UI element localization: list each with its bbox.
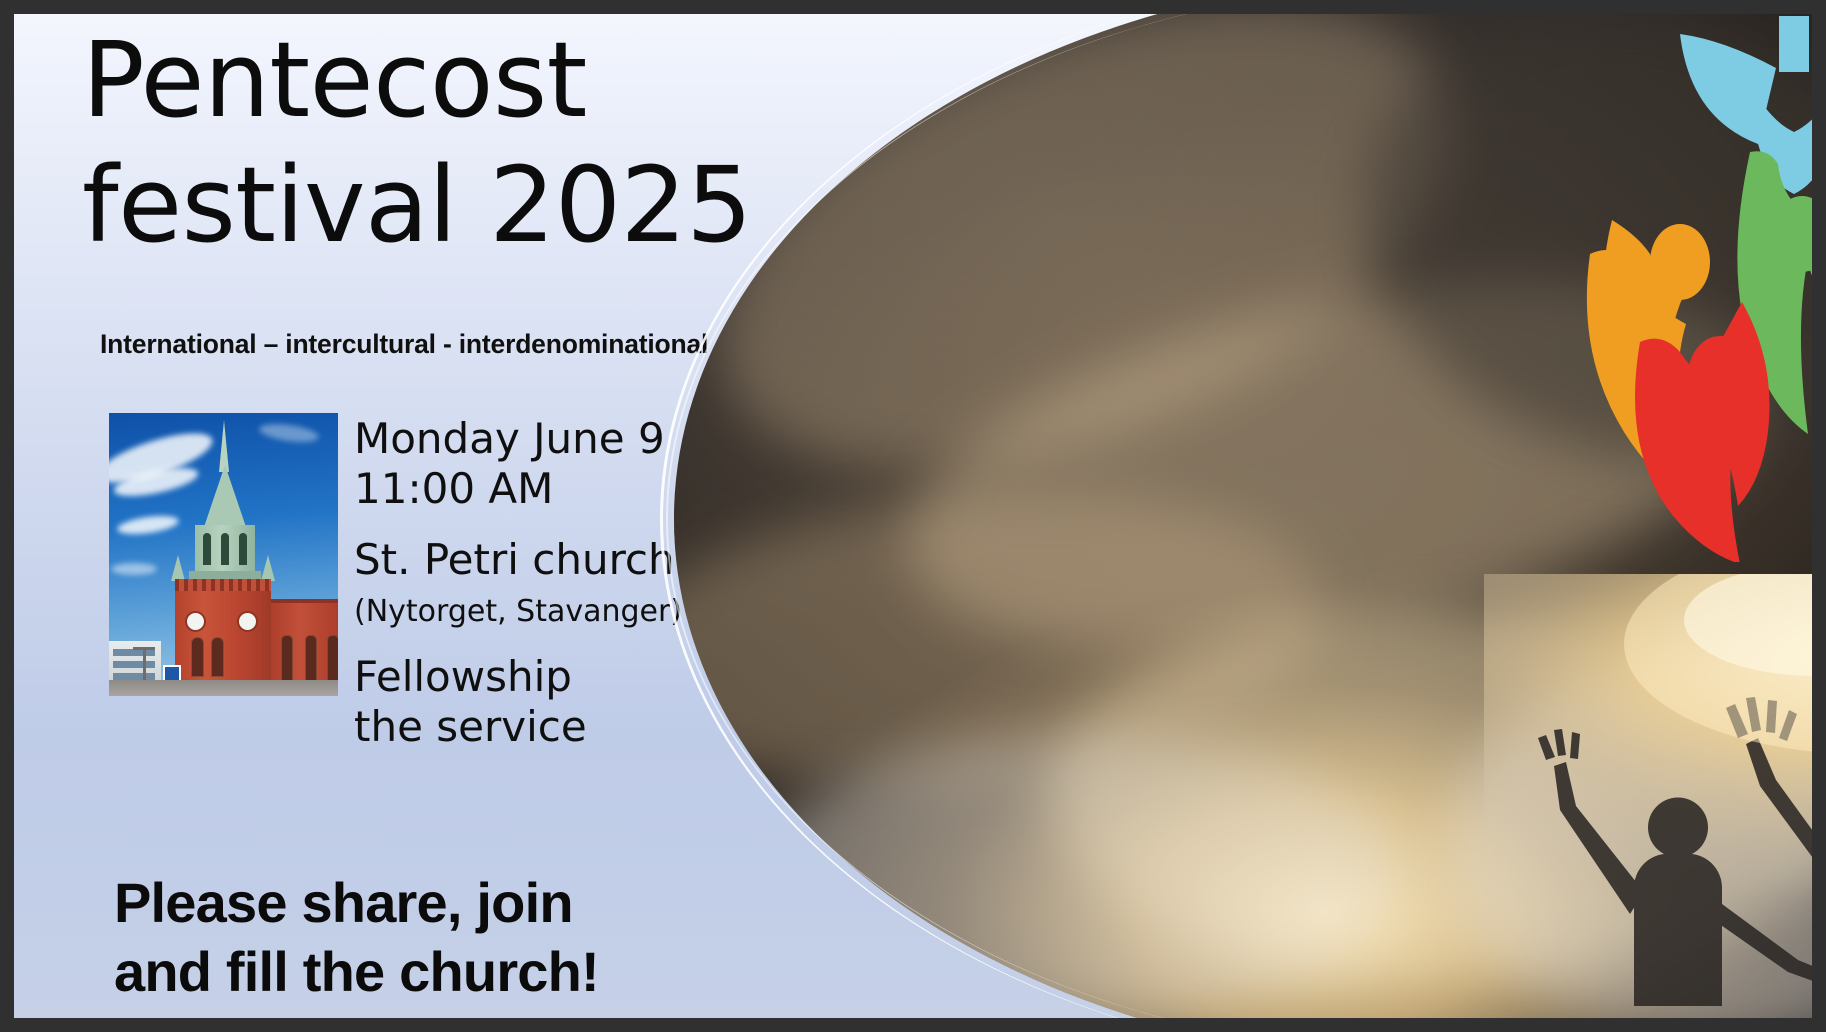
belfry-louvre: [203, 533, 211, 565]
nave-window: [327, 635, 338, 681]
belfry-louvre: [239, 533, 247, 565]
tower-pinnacle: [171, 555, 185, 581]
smoke-wisp: [749, 737, 1399, 1018]
pentecost-logo: [1514, 14, 1812, 562]
tower-clock: [185, 611, 206, 632]
tower-corbel-band: [175, 579, 271, 591]
slide-canvas: Pentecost festival 2025 International – …: [14, 14, 1812, 1018]
tower-window: [191, 637, 204, 677]
building-window-row: [113, 661, 155, 668]
church-tower: [175, 579, 271, 696]
building-window-row: [113, 673, 155, 680]
tower-pinnacle: [261, 555, 275, 581]
street-ground: [109, 680, 338, 696]
belfry-base: [189, 571, 261, 579]
spire-cone: [204, 465, 246, 527]
cloud: [111, 563, 157, 575]
worshipper-silhouettes: [1484, 574, 1812, 1006]
slide-frame: Pentecost festival 2025 International – …: [0, 0, 1826, 1032]
nave-window: [281, 635, 293, 681]
belfry-louvre: [221, 533, 229, 565]
church-photo: [109, 413, 338, 696]
belfry: [195, 525, 255, 573]
pentecost-image-panel: [674, 14, 1812, 1018]
building-window-row: [113, 649, 155, 656]
nave-window: [305, 635, 317, 681]
street-lamp-arm: [133, 647, 155, 650]
tower-window: [211, 637, 224, 677]
tower-clock: [237, 611, 258, 632]
